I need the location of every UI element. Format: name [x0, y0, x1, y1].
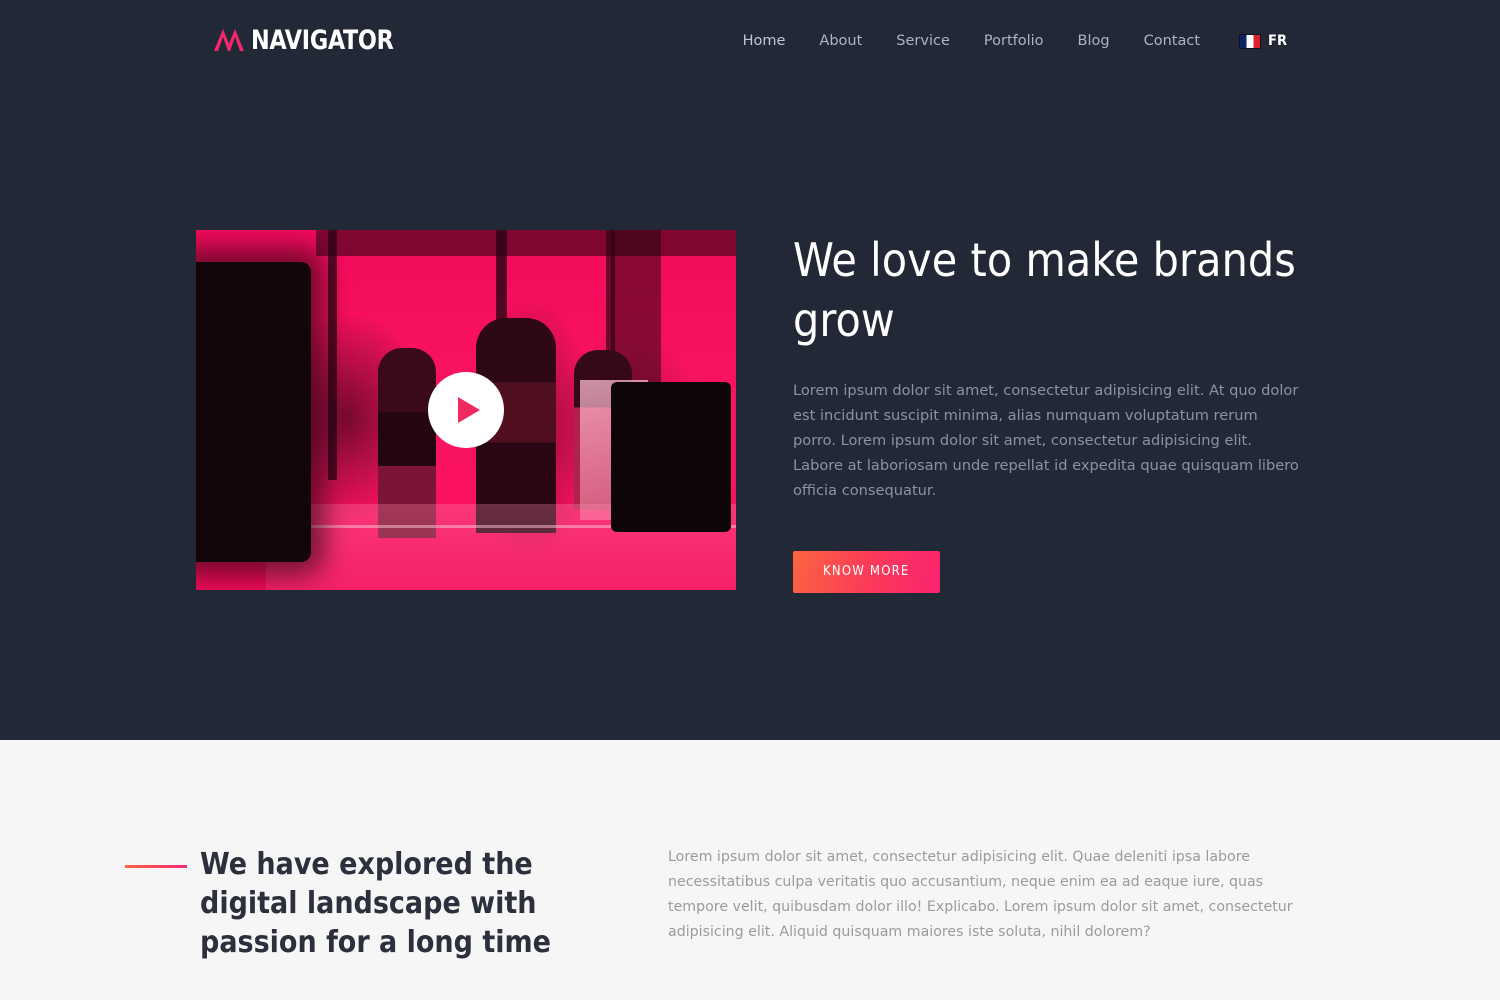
brand-logo[interactable]: NAVIGATOR	[213, 26, 406, 54]
nav-item-service[interactable]: Service	[879, 30, 967, 52]
know-more-button[interactable]: KNOW MORE	[793, 551, 940, 593]
main-navigation: Home About Service Portfolio Blog Contac…	[726, 30, 1287, 52]
nav-item-blog[interactable]: Blog	[1061, 30, 1127, 52]
france-flag-icon	[1239, 34, 1261, 49]
site-header: NAVIGATOR Home About Service Portfolio B…	[0, 0, 1500, 82]
hero-video-thumbnail[interactable]	[196, 230, 736, 590]
play-icon[interactable]	[428, 372, 504, 448]
hero-section: We love to make brands grow Lorem ipsum …	[0, 82, 1500, 740]
hero-title: We love to make brands grow	[793, 230, 1305, 350]
about-section: We have explored the digital landscape w…	[0, 740, 1500, 1000]
language-switcher[interactable]: FR	[1239, 33, 1287, 49]
about-paragraph: Lorem ipsum dolor sit amet, consectetur …	[668, 845, 1308, 945]
nav-item-about[interactable]: About	[802, 30, 879, 52]
hero-paragraph: Lorem ipsum dolor sit amet, consectetur …	[793, 378, 1305, 503]
play-triangle-icon	[458, 397, 480, 423]
brand-name: NAVIGATOR	[251, 27, 394, 54]
about-heading-block: We have explored the digital landscape w…	[125, 845, 605, 962]
nav-item-home[interactable]: Home	[726, 30, 803, 52]
nav-item-contact[interactable]: Contact	[1127, 30, 1217, 52]
mountain-triangles-icon	[213, 26, 247, 54]
about-title: We have explored the digital landscape w…	[200, 845, 600, 962]
accent-line-decoration	[125, 865, 187, 868]
nav-item-portfolio[interactable]: Portfolio	[967, 30, 1061, 52]
language-code: FR	[1268, 33, 1287, 49]
hero-copy: We love to make brands grow Lorem ipsum …	[793, 230, 1305, 593]
